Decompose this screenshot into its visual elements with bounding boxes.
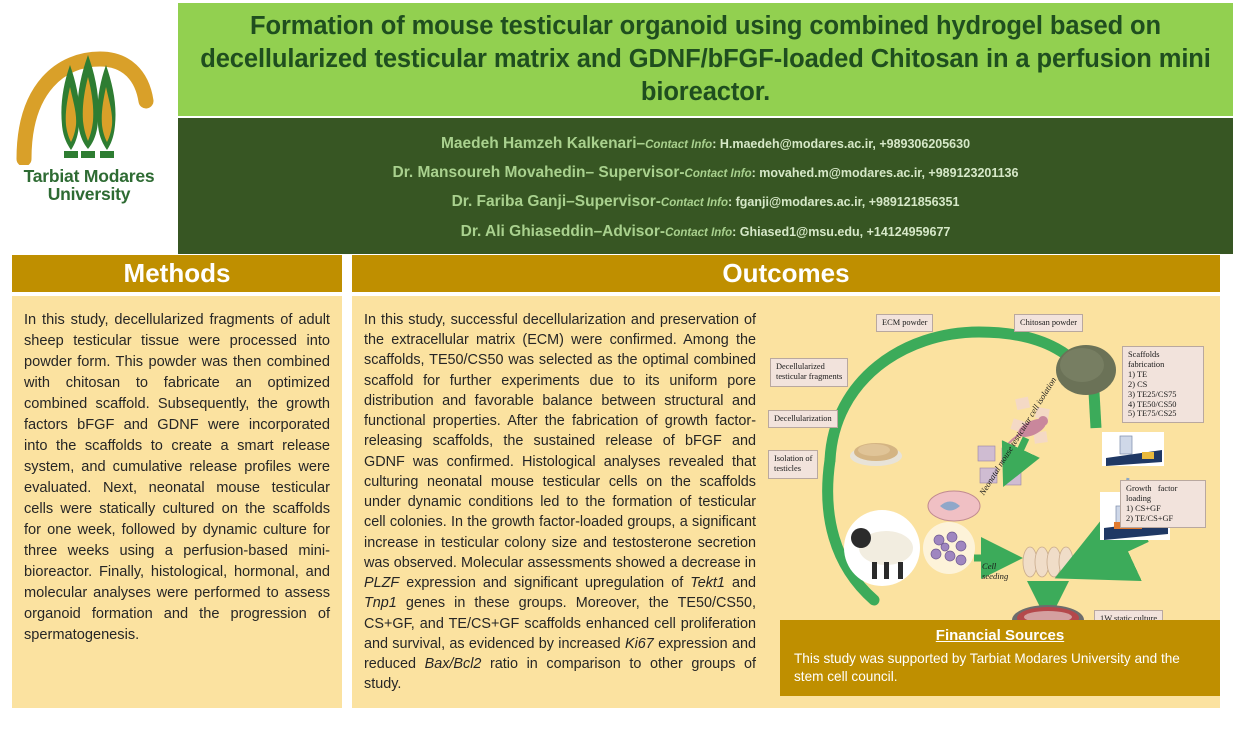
diagram-label-decellularized-fragments: Decellularized testicular fragments — [770, 358, 848, 387]
author-line: Dr. Fariba Ganji–Supervisor-Contact Info… — [452, 193, 960, 211]
author-contact-label: Contact Info — [685, 168, 752, 180]
author-line: Maedeh Hamzeh Kalkenari–Contact Info: H.… — [441, 135, 970, 153]
author-name: Dr. Ali Ghiaseddin–Advisor- — [461, 223, 665, 240]
author-contact-details: : fganji@modares.ac.ir, +989121856351 — [728, 195, 959, 209]
author-contact-label: Contact Info — [665, 227, 732, 239]
university-logo: Tarbiat Modares University — [0, 0, 178, 250]
author-name: Maedeh Hamzeh Kalkenari– — [441, 135, 645, 152]
scaffolds-item: 2) CS — [1128, 380, 1198, 390]
outcomes-heading: Outcomes — [722, 258, 849, 289]
methods-section-header: Methods — [12, 255, 342, 292]
gf-loading-item: 1) CS+GF — [1126, 504, 1200, 514]
diagram-label-decellularization: Decellularization — [768, 410, 838, 428]
author-name: Dr. Mansoureh Movahedin– Supervisor- — [393, 164, 685, 181]
diagram-note-cell-seeding: Cell seeding — [982, 562, 1008, 582]
diagram-label-scaffolds-fabrication: Scaffolds fabrication 1) TE 2) CS 3) TE2… — [1122, 346, 1204, 423]
author-contact-label: Contact Info — [645, 139, 712, 151]
gene-tnp1: Tnp1 — [364, 595, 397, 611]
scaffolds-item: 1) TE — [1128, 370, 1198, 380]
outcomes-text-part: In this study, successful decellularizat… — [364, 312, 756, 571]
methods-section-body: In this study, decellularized fragments … — [12, 296, 342, 708]
author-contact-details: : H.maedeh@modares.ac.ir, +989306205630 — [712, 137, 970, 151]
diagram-label-isolation-of-testicles: Isolation of testicles — [768, 450, 818, 479]
gene-ki67: Ki67 — [625, 636, 654, 652]
author-line: Dr. Mansoureh Movahedin– Supervisor-Cont… — [393, 164, 1019, 182]
diagram-label-ecm-powder: ECM powder — [876, 314, 933, 332]
gene-bax-bcl2: Bax/Bcl2 — [425, 656, 482, 672]
methods-text: In this study, decellularized fragments … — [24, 312, 330, 643]
logo-mark-icon — [14, 47, 164, 165]
financial-sources-heading: Financial Sources — [794, 627, 1206, 644]
gf-loading-item: 2) TE/CS+GF — [1126, 514, 1200, 524]
gene-plzf: PLZF — [364, 575, 399, 591]
logo-line-2: University — [24, 185, 155, 203]
author-line: Dr. Ali Ghiaseddin–Advisor-Contact Info:… — [461, 223, 951, 241]
logo-line-1: Tarbiat Modares — [24, 167, 155, 185]
author-contact-details: : movahed.m@modares.ac.ir, +989123201136 — [752, 166, 1019, 180]
poster-root: Tarbiat Modares University Formation of … — [0, 0, 1233, 731]
author-name: Dr. Fariba Ganji–Supervisor- — [452, 193, 661, 210]
diagram-label-chitosan-powder: Chitosan powder — [1014, 314, 1083, 332]
logo-text: Tarbiat Modares University — [24, 167, 155, 203]
outcomes-text-part: expression and significant upregulation … — [399, 575, 690, 591]
methods-heading: Methods — [124, 258, 231, 289]
diagram-label-growth-factor-loading: Growth factor loading 1) CS+GF 2) TE/CS+… — [1120, 480, 1206, 528]
scaffolds-item: 3) TE25/CS75 — [1128, 390, 1198, 400]
author-contact-details: : Ghiased1@msu.edu, +14124959677 — [732, 225, 950, 239]
outcomes-text-part: and — [725, 575, 756, 591]
poster-title-bar: Formation of mouse testicular organoid u… — [178, 3, 1233, 116]
financial-sources-panel: Financial Sources This study was support… — [780, 620, 1220, 696]
poster-title: Formation of mouse testicular organoid u… — [200, 10, 1211, 109]
scaffolds-item: 4) TE50/CS50 — [1128, 400, 1198, 410]
author-contact-label: Contact Info — [661, 197, 728, 209]
gene-tekt1: Tekt1 — [690, 575, 725, 591]
gf-loading-title: Growth factor loading — [1126, 484, 1200, 504]
scaffolds-item: 5) TE75/CS25 — [1128, 409, 1198, 419]
outcomes-section-header: Outcomes — [352, 255, 1220, 292]
financial-sources-text: This study was supported by Tarbiat Moda… — [794, 650, 1206, 686]
scaffolds-fabrication-title: Scaffolds fabrication — [1128, 350, 1198, 370]
authors-bar: Maedeh Hamzeh Kalkenari–Contact Info: H.… — [178, 118, 1233, 254]
outcomes-text: In this study, successful decellularizat… — [364, 310, 764, 694]
